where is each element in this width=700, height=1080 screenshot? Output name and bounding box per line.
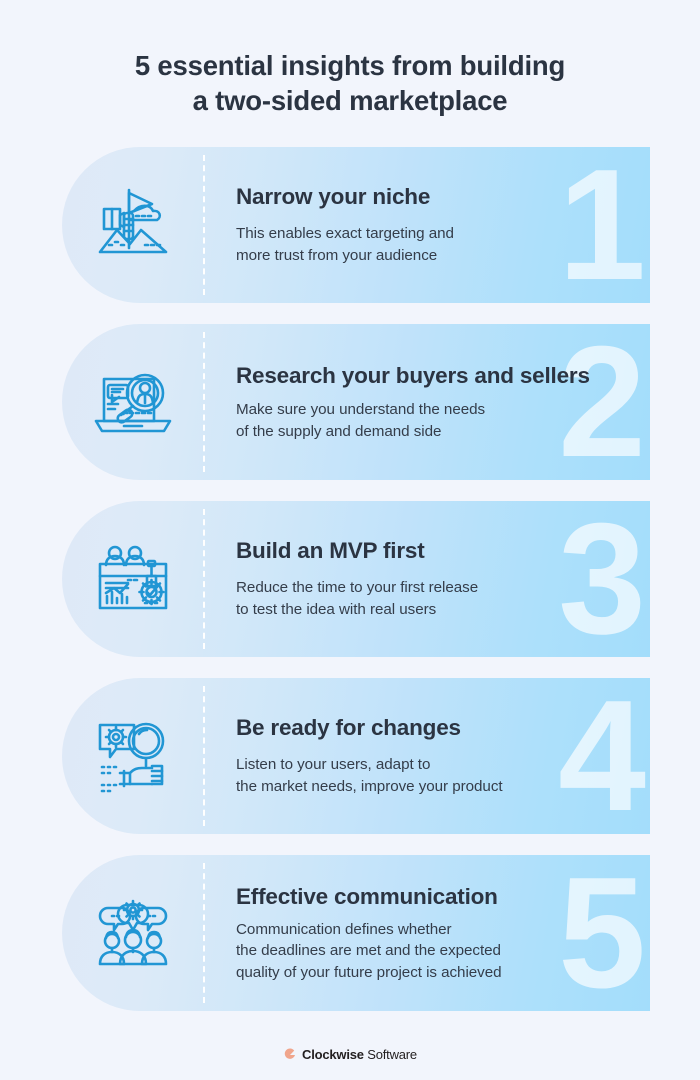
footer-logo-text: Clockwise Software: [302, 1047, 417, 1062]
hand-magnifier-settings-icon: [90, 713, 176, 799]
insight-card-4-divider: [203, 686, 205, 826]
insight-card-3: Build an MVP first Reduce the time to yo…: [62, 501, 650, 657]
footer-logo[interactable]: Clockwise Software: [0, 1047, 700, 1062]
insight-card-5-icon-zone: [62, 855, 203, 1011]
insight-card-4: Be ready for changes Listen to your user…: [62, 678, 650, 834]
insight-card-1-body: Narrow your niche This enables exact tar…: [203, 147, 650, 303]
dashboard-team-gear-icon: [90, 536, 176, 622]
insight-card-3-description: Reduce the time to your first release to…: [236, 577, 632, 620]
flag-on-mountain-icon: [90, 182, 176, 268]
insight-card-5-description: Communication defines whether the deadli…: [236, 919, 632, 983]
insight-card-4-heading: Be ready for changes: [236, 715, 632, 741]
insight-card-4-body: Be ready for changes Listen to your user…: [203, 678, 650, 834]
insight-card-2-heading: Research your buyers and sellers: [236, 363, 632, 389]
insight-card-2-icon-zone: [62, 324, 203, 480]
footer-logo-name: Clockwise: [302, 1047, 364, 1062]
insight-card-3-body: Build an MVP first Reduce the time to yo…: [203, 501, 650, 657]
laptop-user-research-icon: [90, 359, 176, 445]
page-title-line-2: a two-sided marketplace: [40, 83, 660, 118]
page-title-line-1: 5 essential insights from building: [40, 48, 660, 83]
insight-card-2-description: Make sure you understand the needs of th…: [236, 399, 632, 442]
footer-logo-suffix: Software: [364, 1047, 417, 1062]
insight-card-5-divider: [203, 863, 205, 1003]
insight-card-5-body: Effective communication Communication de…: [203, 855, 650, 1011]
page-title: 5 essential insights from building a two…: [0, 0, 700, 118]
insight-card-3-divider: [203, 509, 205, 649]
insight-card-1-icon-zone: [62, 147, 203, 303]
insight-card-2-body: Research your buyers and sellers Make su…: [203, 324, 650, 480]
insights-list: Narrow your niche This enables exact tar…: [0, 147, 700, 1011]
clockwise-arc-icon: [283, 1048, 297, 1062]
insight-card-4-description: Listen to your users, adapt to the marke…: [236, 754, 632, 797]
insight-card-1-divider: [203, 155, 205, 295]
insight-card-3-heading: Build an MVP first: [236, 538, 632, 564]
insight-card-4-icon-zone: [62, 678, 203, 834]
insight-card-1: Narrow your niche This enables exact tar…: [62, 147, 650, 303]
insight-card-5-heading: Effective communication: [236, 884, 632, 910]
insight-card-3-icon-zone: [62, 501, 203, 657]
insight-card-2: Research your buyers and sellers Make su…: [62, 324, 650, 480]
team-speech-bubbles-gear-icon: [90, 890, 176, 976]
insight-card-1-description: This enables exact targeting and more tr…: [236, 223, 632, 266]
insight-card-2-divider: [203, 332, 205, 472]
insight-card-1-heading: Narrow your niche: [236, 184, 632, 210]
insight-card-5: Effective communication Communication de…: [62, 855, 650, 1011]
